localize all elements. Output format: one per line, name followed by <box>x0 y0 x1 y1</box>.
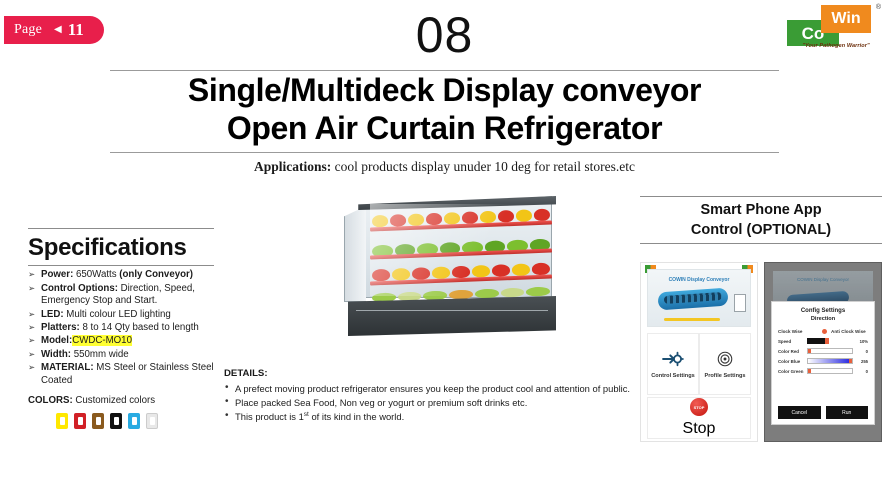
stop-label: Stop <box>683 420 716 438</box>
applications-text: cool products display unuder 10 deg for … <box>335 159 635 174</box>
color-swatch-inner <box>150 417 155 425</box>
product-photo <box>330 190 572 342</box>
config-slider-row[interactable]: Color Green0 <box>778 368 868 374</box>
slider-label: Color Red <box>778 349 804 354</box>
slider-knob[interactable] <box>808 348 811 354</box>
config-dialog-subtitle: Direction <box>778 316 868 322</box>
applications-line: Applications: cool products display unud… <box>0 159 889 175</box>
details-title: DETAILS: <box>224 368 640 379</box>
bullet-arrow-icon: ➢ <box>28 269 35 280</box>
color-swatch-row <box>28 413 214 429</box>
color-swatch-inner <box>114 417 119 425</box>
spec-item: ➢Power: 650Watts (only Conveyor) <box>28 269 214 282</box>
spec-item-value: Multi colour LED lighting <box>64 309 171 320</box>
app-section-title: Smart Phone App Control (OPTIONAL) <box>640 197 882 243</box>
app-hero-title-dimmed: COWIN Display Conveyor <box>773 271 873 282</box>
color-swatch[interactable] <box>146 413 158 429</box>
config-settings-dialog: Config Settings Direction Clock Wise Ant… <box>771 301 875 425</box>
bullet-arrow-icon: ➢ <box>28 349 35 360</box>
conveyor-belt-graphic <box>657 288 728 311</box>
spec-item: ➢MATERIAL: MS Steel or Stainless Steel C… <box>28 362 214 388</box>
app-button-grid: Control Settings Profile Settings <box>647 333 751 395</box>
spec-divider-bottom <box>28 265 214 266</box>
specifications-panel: Specifications ➢Power: 650Watts (only Co… <box>28 228 214 429</box>
spec-item-label: LED: <box>41 309 64 320</box>
spec-item: ➢Control Options: Direction, Speed, Emer… <box>28 283 214 309</box>
profile-settings-label: Profile Settings <box>704 373 745 379</box>
fridge-base-cabinet <box>348 296 556 336</box>
cancel-button[interactable]: Cancel <box>778 406 821 419</box>
profile-settings-button[interactable]: Profile Settings <box>699 333 751 395</box>
stop-icon-text: STOP <box>694 405 705 410</box>
bullet-arrow-icon: ➢ <box>28 309 35 320</box>
details-item: Place packed Sea Food, Non veg or yogurt… <box>224 396 640 409</box>
spec-item-value-bold: (only Conveyor) <box>119 269 193 280</box>
spec-item-label: Control Options: <box>41 283 118 294</box>
slider-track[interactable] <box>807 348 853 354</box>
slider-track[interactable] <box>807 358 853 364</box>
bullet-arrow-icon: ➢ <box>28 322 35 333</box>
color-swatch-inner <box>132 417 137 425</box>
colors-line: COLORS: Customized colors <box>28 395 214 406</box>
phone-screenshot-home: COWIN Display Conveyor Control Settings <box>640 262 758 442</box>
spec-item-label: Platters: <box>41 322 80 333</box>
slider-value: 255 <box>856 359 868 364</box>
title-line-2: Open Air Curtain Refrigerator <box>110 110 779 148</box>
spec-item: ➢Model:CWDC-MO10 <box>28 335 214 348</box>
colors-value: Customized colors <box>73 395 155 406</box>
app-hero-title: COWIN Display Conveyor <box>648 270 750 283</box>
applications-label: Applications: <box>254 159 331 174</box>
speed-slider-track[interactable] <box>807 338 825 344</box>
slider-knob[interactable] <box>808 368 811 374</box>
slider-fill <box>808 359 850 363</box>
fridge-illustration <box>344 196 558 336</box>
slide-root: Page ◀ 11 Co Win ® "Your Pathogen Warrio… <box>0 0 889 500</box>
hero-accent-bar <box>664 318 720 321</box>
color-swatch[interactable] <box>74 413 86 429</box>
spec-item-value: 650Watts <box>73 269 119 280</box>
arrow-gear-icon <box>662 350 684 368</box>
colors-label: COLORS: <box>28 395 73 406</box>
color-swatch-inner <box>60 417 65 425</box>
slider-label: Speed <box>778 339 804 344</box>
config-slider-row[interactable]: Color Blue255 <box>778 358 868 364</box>
spec-item: ➢LED: Multi colour LED lighting <box>28 309 214 322</box>
slider-knob[interactable] <box>849 358 852 364</box>
bullet-arrow-icon: ➢ <box>28 335 35 346</box>
spec-item-value: 550mm wide <box>71 349 129 360</box>
spec-item-value: 8 to 14 Qty based to length <box>80 322 199 333</box>
color-swatch[interactable] <box>56 413 68 429</box>
slider-label: Color Blue <box>778 359 804 364</box>
app-hero-banner: COWIN Display Conveyor <box>647 269 751 327</box>
slider-value: 0 <box>856 349 868 354</box>
stop-icon: STOP <box>690 398 708 416</box>
control-settings-label: Control Settings <box>651 373 695 379</box>
slider-value: 0 <box>856 369 868 374</box>
spec-item: ➢Platters: 8 to 14 Qty based to length <box>28 322 214 335</box>
color-swatch[interactable] <box>110 413 122 429</box>
app-title-line-1: Smart Phone App <box>640 201 882 221</box>
page-title: Single/Multideck Display conveyor Open A… <box>110 72 779 148</box>
hero-phone-icon <box>734 294 746 312</box>
color-swatch[interactable] <box>128 413 140 429</box>
spec-item-value: CWDC-MO10 <box>72 335 132 346</box>
spec-item-label: Model: <box>41 335 72 346</box>
color-swatch[interactable] <box>92 413 104 429</box>
config-dialog-title: Config Settings <box>778 308 868 314</box>
run-button[interactable]: Run <box>826 406 869 419</box>
color-swatch-inner <box>78 417 83 425</box>
details-item: This product is 1st of its kind in the w… <box>224 410 640 423</box>
spec-item: ➢Width: 550mm wide <box>28 349 214 362</box>
spec-item-label: Power: <box>41 269 73 280</box>
fridge-side-panel <box>344 200 366 302</box>
divider-top <box>110 70 779 71</box>
details-item: A prefect moving product refrigerator en… <box>224 382 640 395</box>
spec-item-label: Width: <box>41 349 71 360</box>
specifications-title: Specifications <box>28 235 214 263</box>
slide-number: 08 <box>0 6 889 64</box>
control-settings-button[interactable]: Control Settings <box>647 333 699 395</box>
color-swatch-inner <box>96 417 101 425</box>
config-slider-row[interactable]: Color Red0 <box>778 348 868 354</box>
phone-screenshot-config: COWIN Display Conveyor Config Settings D… <box>764 262 882 442</box>
config-slider-list: Speed10%Color Red0Color Blue255Color Gre… <box>778 334 868 374</box>
slider-value: 10% <box>856 339 868 344</box>
app-title-line-2: Control (OPTIONAL) <box>640 221 882 241</box>
slider-track[interactable] <box>807 368 853 374</box>
specifications-list: ➢Power: 650Watts (only Conveyor)➢Control… <box>28 269 214 387</box>
app-screenshots: COWIN Display Conveyor Control Settings <box>640 262 882 442</box>
stop-button[interactable]: STOP Stop <box>647 397 751 439</box>
details-panel: DETAILS: A prefect moving product refrig… <box>224 368 640 425</box>
spec-item-label: MATERIAL: <box>41 362 94 373</box>
bullet-arrow-icon: ➢ <box>28 362 35 373</box>
config-dialog-buttons: Cancel Run <box>778 406 868 419</box>
bullet-arrow-icon: ➢ <box>28 283 35 294</box>
title-line-1: Single/Multideck Display conveyor <box>110 72 779 110</box>
app-divider-bottom <box>640 243 882 244</box>
app-section-header: Smart Phone App Control (OPTIONAL) <box>640 196 882 244</box>
profile-target-icon <box>714 350 736 368</box>
divider-mid <box>110 152 779 153</box>
details-list: A prefect moving product refrigerator en… <box>224 382 640 424</box>
config-slider-row[interactable]: Speed10% <box>778 338 868 344</box>
slider-label: Color Green <box>778 369 804 374</box>
spec-divider-top <box>28 228 214 229</box>
